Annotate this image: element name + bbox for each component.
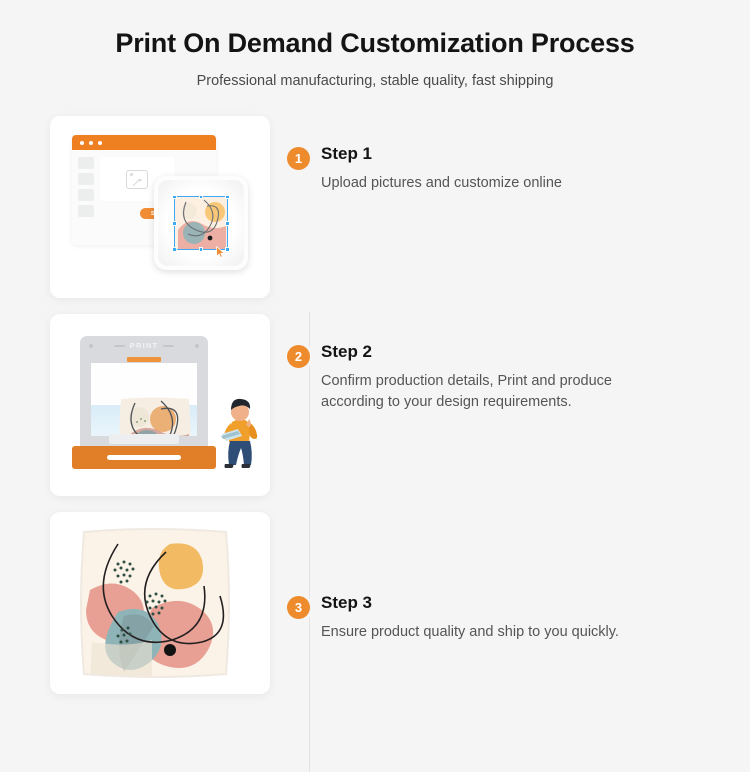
resize-handle-top-left[interactable] xyxy=(172,195,177,200)
page-header: Print On Demand Customization Process Pr… xyxy=(0,0,750,89)
step-3-title: Step 3 xyxy=(321,594,619,613)
image-placeholder-icon xyxy=(126,170,148,189)
resize-handle-top-right[interactable] xyxy=(225,195,230,200)
browser-title-bar xyxy=(72,135,216,150)
step-3-illustration-card xyxy=(50,512,270,694)
step-1-title: Step 1 xyxy=(321,145,562,164)
pillow-in-printer xyxy=(117,395,193,436)
step-2-description-line-2: according to your design requirements. xyxy=(321,394,572,410)
steps-list: SAVE xyxy=(0,116,750,710)
browser-sidebar xyxy=(78,157,94,221)
step-2-body: Step 2 Confirm production details, Print… xyxy=(321,343,612,412)
step-3-number-badge: 3 xyxy=(287,596,310,619)
browser-dot-maximize-icon xyxy=(98,141,102,145)
printing-machine: PRINT xyxy=(80,336,208,469)
sidebar-placeholder-row xyxy=(78,189,94,201)
step-3-description: Ensure product quality and ship to you q… xyxy=(321,622,619,643)
worker-with-laptop-illustration xyxy=(216,386,264,470)
resize-handle-middle-right[interactable] xyxy=(225,221,230,226)
printer-print-head xyxy=(127,357,161,362)
infographic-page: Print On Demand Customization Process Pr… xyxy=(0,0,750,750)
printer-output-slot xyxy=(107,455,181,460)
step-1-text: 1 Step 1 Upload pictures and customize o… xyxy=(287,116,562,193)
printer-dash-left xyxy=(114,345,125,346)
step-2-illustration-card: PRINT xyxy=(50,314,270,496)
printer-dash-right xyxy=(163,345,174,346)
step-2-text: 2 Step 2 Confirm production details, Pri… xyxy=(287,314,612,412)
page-subtitle: Professional manufacturing, stable quali… xyxy=(0,73,750,89)
step-row-2: PRINT xyxy=(0,314,750,512)
sidebar-placeholder-row xyxy=(78,205,94,217)
selection-bounding-box[interactable] xyxy=(174,196,228,250)
step-1-description: Upload pictures and customize online xyxy=(321,173,562,194)
finished-pillow-product xyxy=(74,524,234,682)
step-row-1: SAVE xyxy=(0,116,750,314)
resize-handle-top-middle[interactable] xyxy=(199,195,204,200)
sidebar-placeholder-row xyxy=(78,157,94,169)
step-2-description-line-1: Confirm production details, Print and pr… xyxy=(321,373,612,389)
resize-handle-bottom-right[interactable] xyxy=(225,247,230,252)
printer-top-bar: PRINT xyxy=(80,336,208,355)
mouse-cursor-icon xyxy=(216,246,225,258)
page-title: Print On Demand Customization Process xyxy=(0,27,750,59)
printer-label: PRINT xyxy=(130,341,159,350)
printer-base xyxy=(72,446,216,469)
step-2-title: Step 2 xyxy=(321,343,612,362)
step-row-3: 3 Step 3 Ensure product quality and ship… xyxy=(0,512,750,710)
printer-window xyxy=(91,363,197,436)
sidebar-placeholder-row xyxy=(78,173,94,185)
resize-handle-middle-left[interactable] xyxy=(172,221,177,226)
resize-handle-bottom-middle[interactable] xyxy=(199,247,204,252)
pillow-preview-with-selection xyxy=(154,176,248,270)
step-3-body: Step 3 Ensure product quality and ship t… xyxy=(321,594,619,642)
step-3-text: 3 Step 3 Ensure product quality and ship… xyxy=(287,512,619,642)
browser-dot-minimize-icon xyxy=(89,141,93,145)
step-1-body: Step 1 Upload pictures and customize onl… xyxy=(321,145,562,193)
step-1-illustration-card: SAVE xyxy=(50,116,270,298)
resize-handle-bottom-left[interactable] xyxy=(172,247,177,252)
step-1-number-badge: 1 xyxy=(287,147,310,170)
printer-tray xyxy=(109,434,179,444)
browser-dot-close-icon xyxy=(80,141,84,145)
step-2-description: Confirm production details, Print and pr… xyxy=(321,371,612,412)
step-2-number-badge: 2 xyxy=(287,345,310,368)
